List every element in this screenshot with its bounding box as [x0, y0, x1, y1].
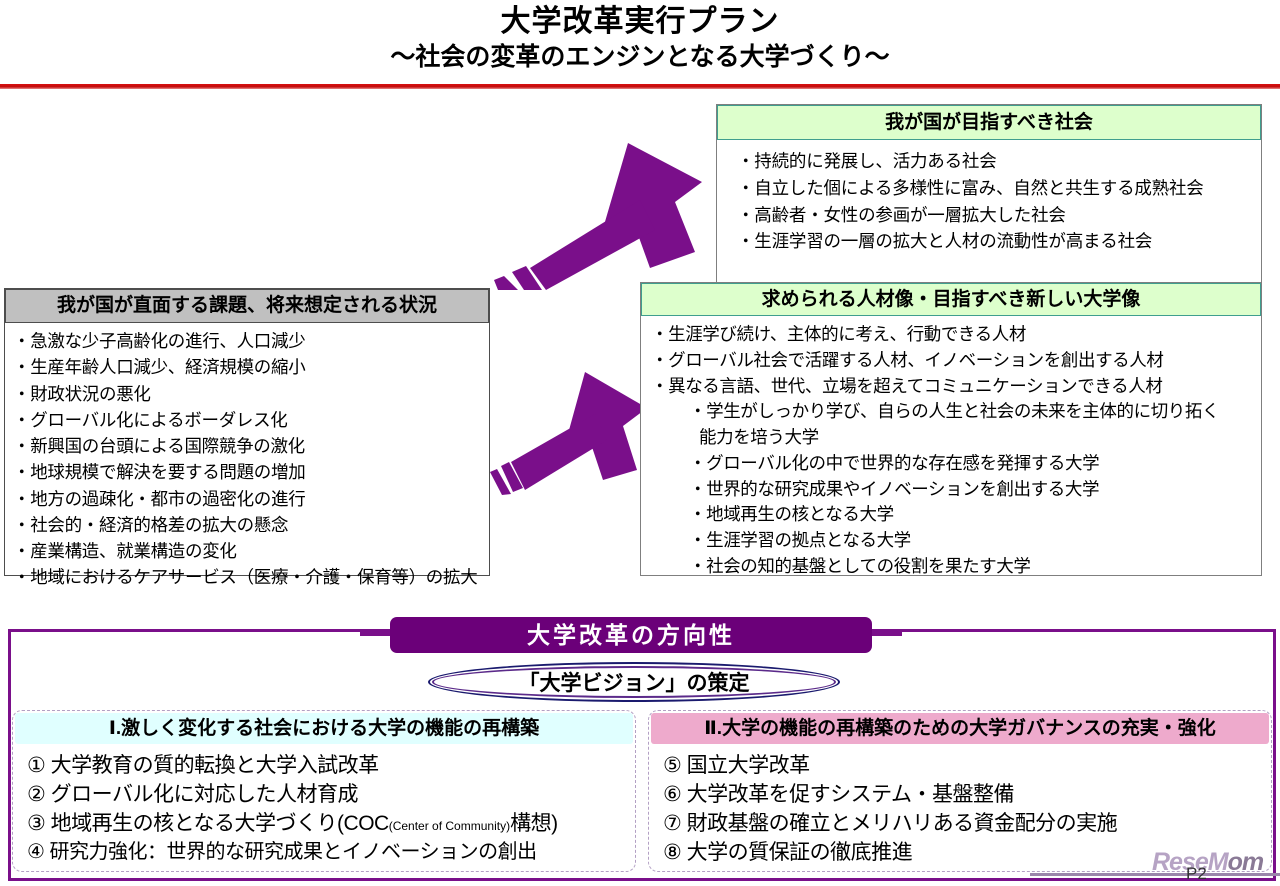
list-item: ・自立した個による多様性に富み、自然と共生する成熟社会 — [737, 177, 1261, 200]
list-item: ・グローバル化によるボーダレス化 — [13, 409, 489, 432]
list-item: ・グローバル化の中で世界的な存在感を発揮する大学 — [651, 452, 1261, 475]
reform-direction-banner: 大学改革の方向性 — [390, 617, 872, 653]
list-item: ① 大学教育の質的転換と大学入試改革 — [27, 752, 635, 781]
list-item: ⑦ 財政基盤の確立とメリハリある資金配分の実施 — [663, 810, 1271, 839]
title-block: 大学改革実行プラン ～社会の変革のエンジンとなる大学づくり～ — [0, 4, 1280, 73]
list-item: ⑥ 大学改革を促すシステム・基盤整備 — [663, 781, 1271, 810]
coc-item-note: (Center of Community) — [389, 819, 510, 833]
page-number: P2 — [1186, 864, 1207, 884]
list-item: ・急激な少子高齢化の進行、人口減少 — [13, 330, 489, 353]
list-item: ・生産年齢人口減少、経済規模の縮小 — [13, 356, 489, 379]
reform-column-2-header: Ⅱ.大学の機能の再構築のための大学ガバナンスの充実・強化 — [651, 713, 1269, 744]
goal-society-box: 我が国が目指すべき社会 ・持続的に発展し、活力ある社会 ・自立した個による多様性… — [716, 104, 1262, 286]
list-item: ・生涯学習の拠点となる大学 — [651, 529, 1261, 552]
required-talent-list: ・生涯学び続け、主体的に考え、行動できる人材 ・グローバル社会で活躍する人材、イ… — [641, 316, 1261, 578]
goal-society-list: ・持続的に発展し、活力ある社会 ・自立した個による多様性に富み、自然と共生する成… — [717, 140, 1261, 253]
banner-connector-left — [360, 632, 394, 636]
list-item: ・社会的・経済的格差の拡大の懸念 — [13, 514, 489, 537]
list-item: ・地球規模で解決を要する問題の増加 — [13, 461, 489, 484]
list-item: 能力を培う大学 — [651, 426, 1261, 449]
university-vision-label: 「大学ビジョン」の策定 — [428, 662, 840, 702]
national-issues-box: 我が国が直面する課題、将来想定される状況 ・急激な少子高齢化の進行、人口減少 ・… — [4, 288, 490, 576]
list-item: ・世界的な研究成果やイノベーションを創出する大学 — [651, 478, 1261, 501]
list-item: ④ 研究力強化：世界的な研究成果とイノベーションの創出 — [27, 839, 635, 867]
list-item: ② グローバル化に対応した人材育成 — [27, 781, 635, 810]
page-subtitle: ～社会の変革のエンジンとなる大学づくり～ — [0, 42, 1280, 73]
university-vision-ellipse: 「大学ビジョン」の策定 — [428, 662, 840, 702]
page-title: 大学改革実行プラン — [0, 4, 1280, 41]
list-item: ・生涯学習の一層の拡大と人材の流動性が高まる社会 — [737, 230, 1261, 253]
slide-root: 大学改革実行プラン ～社会の変革のエンジンとなる大学づくり～ 我が国が目指すべき… — [0, 0, 1280, 886]
arrow-up-right-icon-1 — [490, 140, 720, 290]
list-item: ⑤ 国立大学改革 — [663, 752, 1271, 781]
required-talent-header: 求められる人材像・目指すべき新しい大学像 — [641, 283, 1261, 316]
list-item: ・新興国の台頭による国際競争の激化 — [13, 435, 489, 458]
coc-item-suffix: 構想) — [510, 812, 558, 835]
national-issues-header: 我が国が直面する課題、将来想定される状況 — [5, 289, 489, 323]
watermark-part-2: om — [1228, 848, 1264, 876]
required-talent-box: 求められる人材像・目指すべき新しい大学像 ・生涯学び続け、主体的に考え、行動でき… — [640, 282, 1262, 576]
list-item: ・持続的に発展し、活力ある社会 — [737, 150, 1261, 173]
list-item: ・生涯学び続け、主体的に考え、行動できる人材 — [651, 323, 1261, 346]
arrow-up-right-icon-2 — [485, 370, 660, 495]
reform-column-1-list: ① 大学教育の質的転換と大学入試改革 ② グローバル化に対応した人材育成 ③ 地… — [13, 744, 635, 867]
reform-column-1-header: Ⅰ.激しく変化する社会における大学の機能の再構築 — [15, 713, 633, 744]
resemom-watermark: ReseMom — [1152, 848, 1263, 877]
list-item: ・地域再生の核となる大学 — [651, 503, 1261, 526]
list-item: ・高齢者・女性の参画が一層拡大した社会 — [737, 204, 1261, 227]
reform-column-1: Ⅰ.激しく変化する社会における大学の機能の再構築 ① 大学教育の質的転換と大学入… — [12, 710, 636, 872]
list-item: ・地方の過疎化・都市の過密化の進行 — [13, 488, 489, 511]
goal-society-header: 我が国が目指すべき社会 — [717, 105, 1261, 140]
list-item: ・学生がしっかり学び、自らの人生と社会の未来を主体的に切り拓く — [651, 400, 1261, 423]
list-item: ・地域におけるケアサービス（医療・介護・保育等）の拡大 — [13, 566, 489, 589]
banner-connector-right — [868, 632, 902, 636]
title-divider — [0, 84, 1280, 89]
list-item: ・社会の知的基盤としての役割を果たす大学 — [651, 555, 1261, 578]
coc-item-prefix: ③ 地域再生の核となる大学づくり(COC — [27, 812, 389, 835]
list-item: ・グローバル社会で活躍する人材、イノベーションを創出する人材 — [651, 349, 1261, 372]
list-item: ・産業構造、就業構造の変化 — [13, 540, 489, 563]
national-issues-list: ・急激な少子高齢化の進行、人口減少 ・生産年齢人口減少、経済規模の縮小 ・財政状… — [5, 323, 489, 589]
list-item: ③ 地域再生の核となる大学づくり(COC(Center of Community… — [27, 810, 635, 839]
list-item: ・財政状況の悪化 — [13, 383, 489, 406]
list-item: ・異なる言語、世代、立場を超えてコミュニケーションできる人材 — [651, 375, 1261, 398]
